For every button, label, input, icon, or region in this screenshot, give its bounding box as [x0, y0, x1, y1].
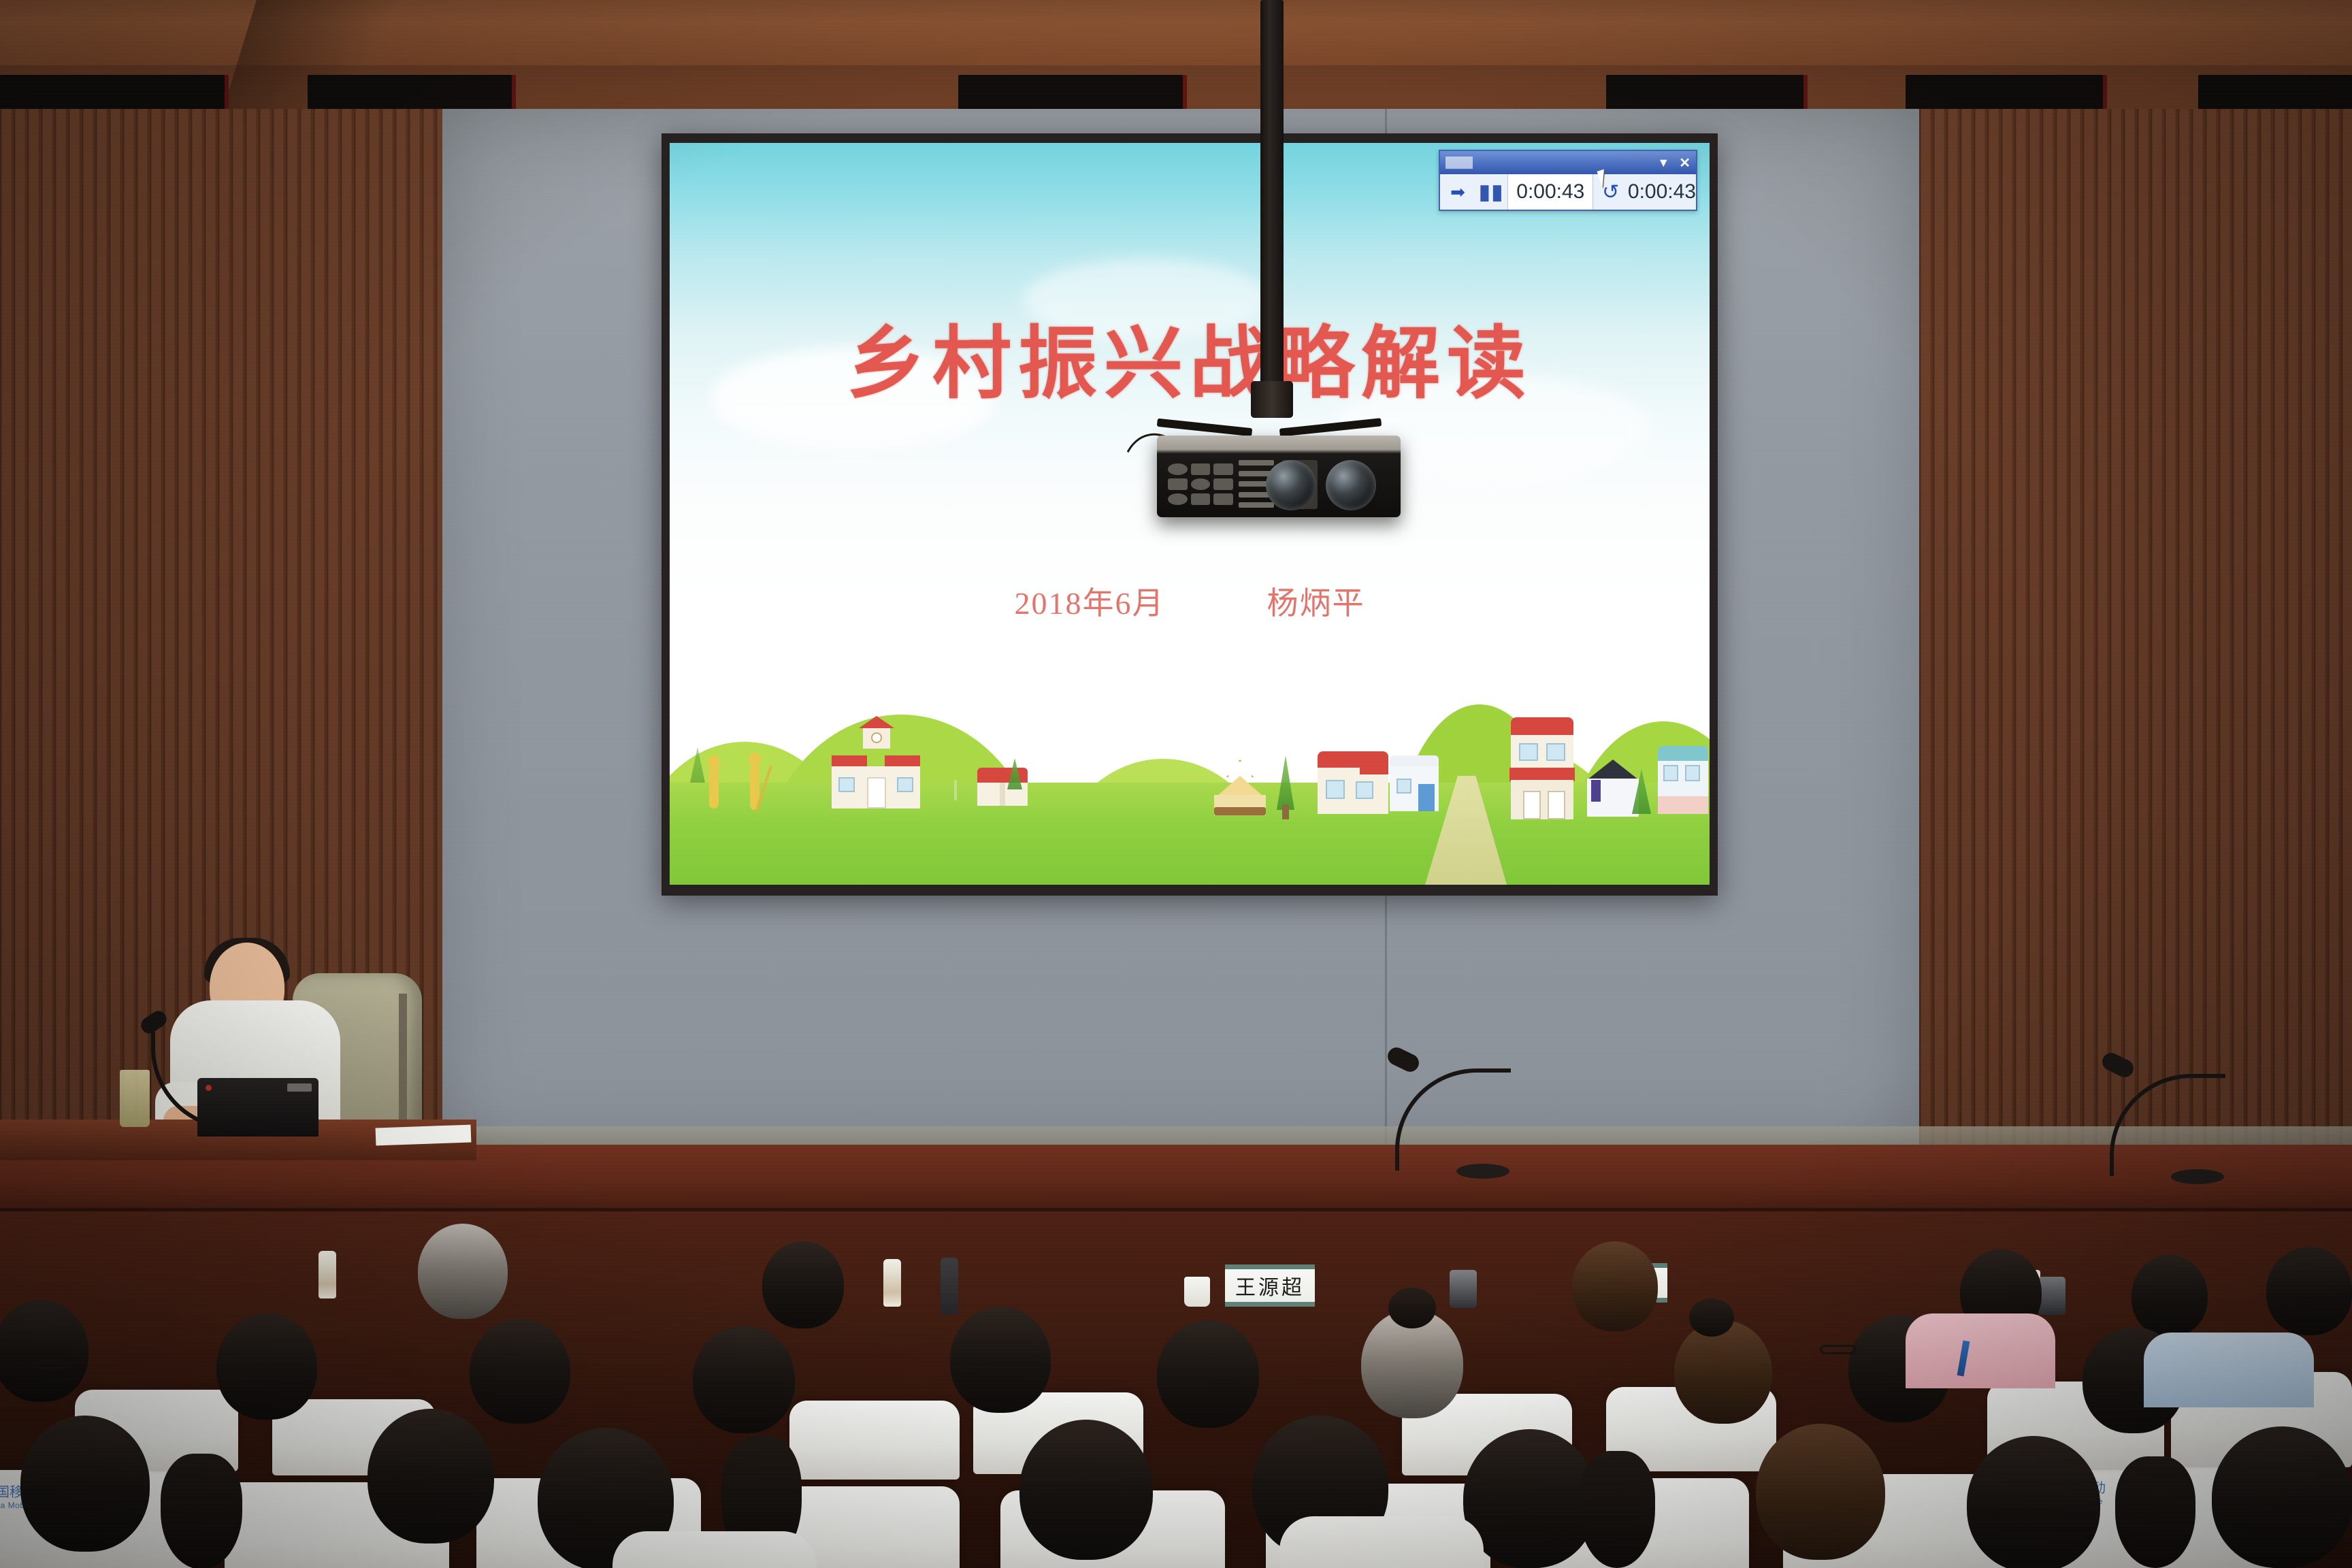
water-bottle — [883, 1259, 901, 1307]
audience-head — [762, 1241, 844, 1328]
audience-shoulders — [612, 1531, 817, 1568]
audience-head — [693, 1326, 795, 1433]
audience-pink-shirt — [1906, 1313, 2055, 1388]
laptop-logo-dot — [206, 1085, 212, 1091]
house-two-storey — [1511, 717, 1573, 819]
hair-bun — [1689, 1298, 1734, 1337]
audience-head — [418, 1224, 508, 1319]
audience-shoulders — [1279, 1516, 1484, 1568]
audience-head — [2266, 1247, 2352, 1335]
placard-name: 王源超 — [1235, 1271, 1305, 1301]
eyeglasses — [33, 1360, 69, 1369]
water-bottle — [318, 1251, 336, 1298]
paper-cup — [1184, 1277, 1210, 1307]
audience-head — [367, 1409, 494, 1543]
house-white-gable — [1587, 759, 1639, 817]
projector-button-panel[interactable] — [1168, 459, 1233, 509]
audience-head — [20, 1416, 150, 1552]
phone[interactable] — [2038, 1277, 2065, 1315]
audience-head — [2212, 1426, 2352, 1568]
toolbar-titlebar[interactable]: ▼ ✕ — [1440, 151, 1696, 174]
phone[interactable] — [1450, 1270, 1477, 1308]
audience-head — [216, 1313, 317, 1420]
slide-date: 2018年6月 — [1015, 578, 1165, 623]
farmer-figure — [709, 766, 719, 808]
projector-mount-pole — [1260, 0, 1284, 395]
projector-lens — [1326, 460, 1376, 510]
rehearse-timings-toolbar[interactable]: ▼ ✕ ➡ ▮▮ 0:00:43 ↺ 0:00:43 — [1439, 150, 1697, 211]
thermos — [941, 1258, 958, 1315]
house-schoolhouse — [832, 749, 920, 808]
audience-ponytail — [1579, 1451, 1655, 1568]
audience-head — [1572, 1241, 1658, 1331]
audience-blue-shirt — [2144, 1333, 2314, 1407]
house-villa-red — [1318, 751, 1388, 814]
audience-head — [1674, 1320, 1772, 1424]
pole-collar — [1251, 381, 1293, 418]
next-arrow-icon[interactable]: ➡ — [1440, 174, 1475, 210]
house-blue-white — [1390, 755, 1439, 811]
drinking-glass — [120, 1070, 150, 1127]
seat-cover — [789, 1401, 960, 1480]
pause-icon[interactable]: ▮▮ — [1475, 174, 1507, 210]
audience-head — [950, 1307, 1051, 1413]
slide-subtitle-row: 2018年6月 杨炳平 — [670, 578, 1710, 623]
audience-head — [470, 1319, 570, 1424]
caret-down-icon[interactable]: ▼ — [1657, 156, 1669, 170]
house-cottage — [1214, 759, 1266, 815]
laptop-brand-badge — [287, 1083, 312, 1092]
total-time-display: 0:00:43 — [1628, 174, 1696, 210]
toolbar-app-icon — [1445, 157, 1473, 169]
audience-head — [1967, 1436, 2100, 1568]
ceiling-projector — [1157, 436, 1401, 517]
slide-title: 乡村振兴战略解读 — [670, 299, 1710, 414]
slide-presenter: 杨炳平 — [1267, 578, 1365, 623]
presenter-laptop[interactable] — [197, 1078, 318, 1137]
audience-head — [2131, 1255, 2208, 1337]
village-illustration — [670, 660, 1710, 885]
eyeglasses — [1820, 1345, 1857, 1354]
farmer-figure-head — [749, 753, 761, 766]
hair-bun — [1388, 1288, 1436, 1328]
close-icon[interactable]: ✕ — [1679, 154, 1690, 171]
farmer-figure-head — [708, 755, 720, 769]
audience-head — [1756, 1424, 1885, 1560]
name-placard: 王源超 — [1225, 1264, 1315, 1307]
audience-ponytail — [161, 1454, 242, 1568]
audience-head — [1157, 1320, 1259, 1428]
audience-area: 王源超 姜 中国移动China Mobile 中国移动China Mobile — [0, 1211, 2352, 1568]
audience-ponytail — [2115, 1456, 2195, 1568]
audience-head — [1019, 1420, 1153, 1560]
auditorium-photo: 乡村振兴战略解读 2018年6月 杨炳平 — [0, 0, 2352, 1568]
stage-microphone-center — [1382, 1055, 1511, 1171]
desk-papers — [376, 1125, 472, 1146]
slide-time-display: 0:00:43 — [1507, 174, 1593, 210]
audience-head — [0, 1300, 88, 1402]
house-teal-roof — [1658, 746, 1708, 814]
toolbar-controls[interactable]: ➡ ▮▮ 0:00:43 ↺ 0:00:43 — [1440, 174, 1696, 210]
stage-microphone-right — [2096, 1060, 2225, 1176]
projector-fan — [1266, 460, 1316, 510]
